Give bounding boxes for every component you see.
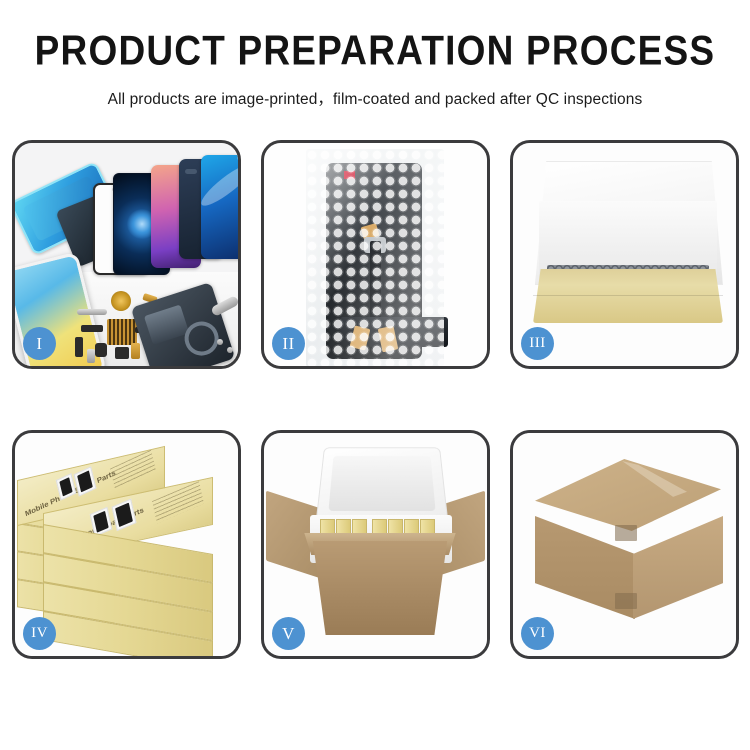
spare-part-connector <box>131 343 140 359</box>
process-step-card-5[interactable]: V <box>261 430 490 659</box>
box-spec-text <box>110 450 156 489</box>
spare-part-button <box>87 349 95 363</box>
step-badge-2: II <box>272 327 305 360</box>
box-spec-text <box>152 481 204 523</box>
step-badge-1: I <box>23 327 56 360</box>
step-badge-4: IV <box>23 617 56 650</box>
page-title: PRODUCT PREPARATION PROCESS <box>0 30 750 74</box>
red-tab-sticker <box>344 171 355 179</box>
spare-part-screw <box>217 339 223 345</box>
box-product-image <box>74 466 97 496</box>
spare-part-coil <box>111 291 131 311</box>
process-step-card-1[interactable]: I <box>12 140 241 369</box>
yellow-box-tray <box>533 269 723 323</box>
carton-seam <box>615 525 637 541</box>
page-subtitle: All products are image-printed，film-coat… <box>0 87 750 109</box>
step-badge-5: V <box>272 617 305 650</box>
styrofoam-lid <box>315 447 448 523</box>
spare-part-chip-grid <box>107 319 137 345</box>
page-header: PRODUCT PREPARATION PROCESS All products… <box>0 0 750 109</box>
step-badge-6: VI <box>521 617 554 650</box>
blue-wave-phone <box>201 155 238 259</box>
spare-part-bracket <box>81 325 103 332</box>
spare-part-camera <box>115 347 129 359</box>
spare-part-screw <box>227 347 233 353</box>
carton-seam <box>615 593 637 609</box>
process-step-grid: I II <box>12 140 738 659</box>
process-step-card-4[interactable]: Mobile Phone Spare Parts Mobile Phone Sp… <box>12 430 241 659</box>
spare-part-strip <box>77 309 107 315</box>
carton-body <box>300 541 460 635</box>
process-step-card-2[interactable]: II <box>261 140 490 369</box>
process-step-card-3[interactable]: III <box>510 140 739 369</box>
box-product-image <box>112 499 137 532</box>
bubble-wrap-bag <box>306 149 444 366</box>
spare-part-pin <box>75 337 83 357</box>
step-badge-3: III <box>521 327 554 360</box>
lcd-screen-assembly <box>326 163 422 359</box>
process-step-card-6[interactable]: VI <box>510 430 739 659</box>
spare-part-speaker <box>95 343 107 357</box>
